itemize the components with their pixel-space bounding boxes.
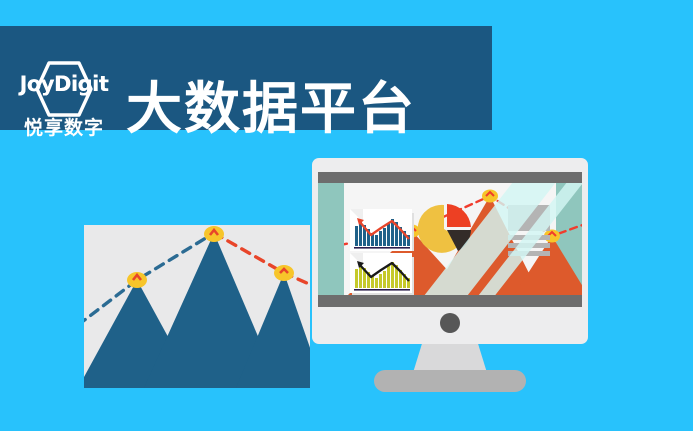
logo-wordmark: JoyDigit — [12, 74, 116, 95]
monitor-power-dot — [440, 313, 460, 333]
monitor-top-bar — [318, 172, 582, 183]
illustration-stage: JoyDigit 悦享数字 大数据平台 — [0, 0, 693, 431]
screen-side-strip-left — [318, 183, 344, 295]
logo-subtitle: 悦享数字 — [12, 118, 116, 140]
brand-logo: JoyDigit 悦享数字 — [12, 58, 116, 150]
card-olive-bar-chart — [350, 253, 412, 293]
monitor-stand-base — [374, 370, 526, 392]
monitor-screen — [318, 183, 582, 295]
olive-bar-chart — [354, 259, 410, 291]
header-banner: JoyDigit 悦享数字 大数据平台 — [0, 26, 492, 130]
page-title: 大数据平台 — [126, 74, 416, 144]
pie-slice-red — [447, 204, 471, 227]
desktop-monitor — [312, 158, 588, 344]
mountain-area-chart — [84, 225, 310, 388]
blue-bar-chart — [354, 216, 410, 249]
card-blue-bar-chart — [350, 209, 412, 251]
monitor-bottom-bar — [318, 295, 582, 307]
left-mountain-panel — [84, 225, 310, 388]
